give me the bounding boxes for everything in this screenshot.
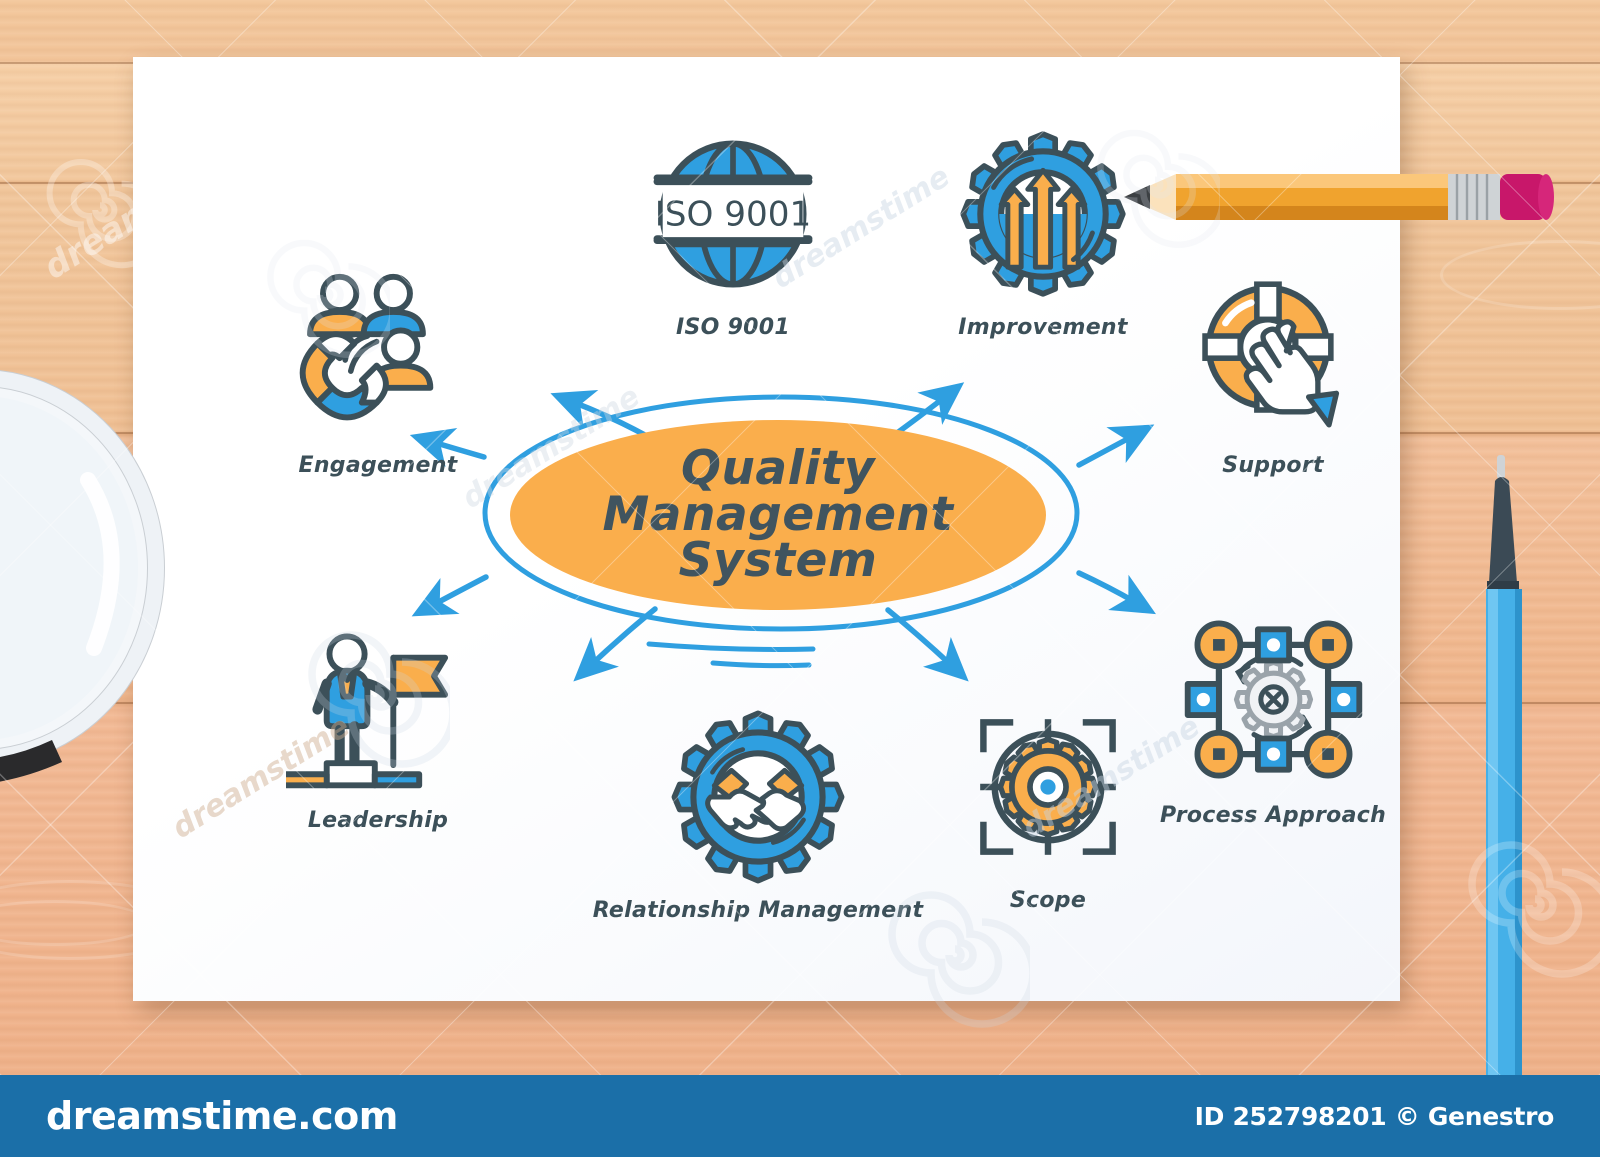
node-label: Process Approach	[1160, 803, 1386, 828]
footer-bar: dreamstime.com ID 252798201 © Genestro	[0, 1075, 1600, 1157]
podium-flag-icon	[286, 617, 471, 802]
podium-left	[286, 774, 327, 785]
center-line-3: System	[679, 538, 878, 584]
node-label: Scope	[1010, 888, 1086, 913]
ellipse-underline-1	[649, 644, 813, 649]
head	[329, 636, 364, 671]
node-label: Support	[1222, 453, 1324, 478]
node-scope[interactable]: Scope	[933, 692, 1163, 913]
magnet-people-icon	[286, 262, 471, 447]
flag	[393, 658, 445, 695]
handshake-gear-icon	[663, 702, 853, 892]
node-label: Improvement	[958, 315, 1127, 340]
target-gear-icon	[953, 692, 1143, 882]
bracket-br	[1086, 825, 1113, 852]
wood-grain	[1440, 240, 1600, 310]
node-process-approach[interactable]: Process Approach	[1143, 602, 1400, 828]
image-credit: ID 252798201 © Genestro	[1195, 1102, 1554, 1131]
node-engagement[interactable]: Engagement	[263, 262, 493, 478]
pen-nib	[1497, 455, 1505, 479]
bracket-bl	[983, 825, 1010, 852]
podium-first	[326, 763, 374, 785]
node-relationship-management[interactable]: Relationship Management	[628, 702, 888, 923]
center-dot	[1040, 779, 1055, 794]
person-blue-top	[363, 277, 422, 334]
brand-logo: dreamstime.com	[46, 1094, 398, 1138]
globe-iso-icon: ISO 9001	[638, 119, 828, 309]
pencil	[1100, 166, 1570, 228]
node-label: Relationship Management	[593, 898, 924, 923]
center-line-1: Quality	[681, 446, 875, 492]
arrow-to-process-approach	[1079, 573, 1135, 602]
arm-right	[367, 684, 393, 703]
node-improvement[interactable]: Improvement	[923, 119, 1163, 340]
magnifying-glass	[0, 340, 270, 960]
ballpoint-pen	[1475, 455, 1535, 1075]
bracket-tr	[1086, 722, 1113, 749]
pencil-graphite	[1124, 185, 1150, 209]
process-network-icon	[1176, 602, 1371, 797]
arrow-to-support	[1079, 436, 1133, 465]
node-leadership[interactable]: Leadership	[263, 617, 493, 833]
node-label: Leadership	[308, 808, 448, 833]
iso-badge-text: ISO 9001	[655, 194, 812, 234]
node-label: ISO 9001	[676, 315, 790, 340]
node-support[interactable]: Support	[1158, 262, 1388, 478]
ellipse-underline-2	[713, 663, 809, 666]
person-orange-top	[310, 277, 369, 334]
center-line-2: Management	[603, 492, 954, 538]
center-gear	[1236, 662, 1310, 736]
pen-tip-cone	[1489, 477, 1517, 583]
brand-text: dreamstime.com	[46, 1094, 398, 1138]
center-node: Quality Management System	[478, 390, 1078, 640]
node-label: Engagement	[299, 453, 458, 478]
bracket-tl	[983, 722, 1010, 749]
node-iso-9001[interactable]: ISO 9001 ISO 9001	[613, 119, 853, 340]
magnet	[302, 334, 385, 417]
lifebuoy-hand-icon	[1181, 262, 1366, 447]
podium-right	[374, 774, 418, 785]
center-label: Quality Management System	[478, 390, 1078, 640]
